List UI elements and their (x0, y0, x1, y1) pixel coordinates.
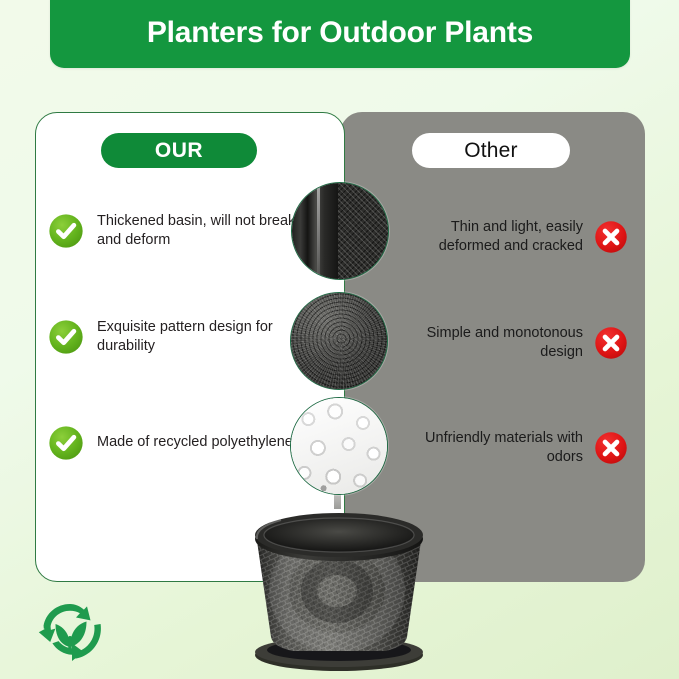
title-banner: Planters for Outdoor Plants (50, 0, 630, 68)
other-feature-text: Thin and light, easily deformed and crac… (398, 218, 583, 256)
woven-pattern-closeup-image (290, 292, 388, 390)
our-feature-text: Thickened basin, will not break and defo… (97, 212, 298, 250)
other-badge-label: Other (464, 139, 518, 163)
infographic-canvas: Planters for Outdoor Plants OUR Other Th… (0, 0, 679, 679)
our-column-badge: OUR (101, 133, 257, 168)
our-feature-row: Exquisite pattern design for durability (48, 318, 298, 356)
other-feature-row: Thin and light, easily deformed and crac… (398, 218, 628, 256)
page-title: Planters for Outdoor Plants (147, 4, 533, 50)
our-feature-text: Made of recycled polyethylene (97, 433, 293, 452)
other-column-badge: Other (412, 133, 570, 168)
green-check-icon (48, 213, 84, 249)
polyethylene-pellets-closeup-image (290, 397, 388, 495)
other-feature-text: Simple and monotonous design (398, 324, 583, 362)
other-feature-row: Simple and monotonous design (398, 324, 628, 362)
red-x-icon (594, 220, 628, 254)
our-feature-row: Made of recycled polyethylene (48, 425, 298, 461)
our-badge-label: OUR (155, 139, 203, 163)
our-feature-text: Exquisite pattern design for durability (97, 318, 298, 356)
recycle-leaf-logo (38, 598, 102, 662)
our-feature-row: Thickened basin, will not break and defo… (48, 212, 298, 250)
other-feature-row: Unfriendly materials with odors (398, 429, 628, 467)
green-check-icon (48, 425, 84, 461)
red-x-icon (594, 431, 628, 465)
other-feature-text: Unfriendly materials with odors (398, 429, 583, 467)
thick-rim-closeup-image (291, 182, 389, 280)
outdoor-planter-photo (233, 505, 445, 673)
red-x-icon (594, 326, 628, 360)
green-check-icon (48, 319, 84, 355)
